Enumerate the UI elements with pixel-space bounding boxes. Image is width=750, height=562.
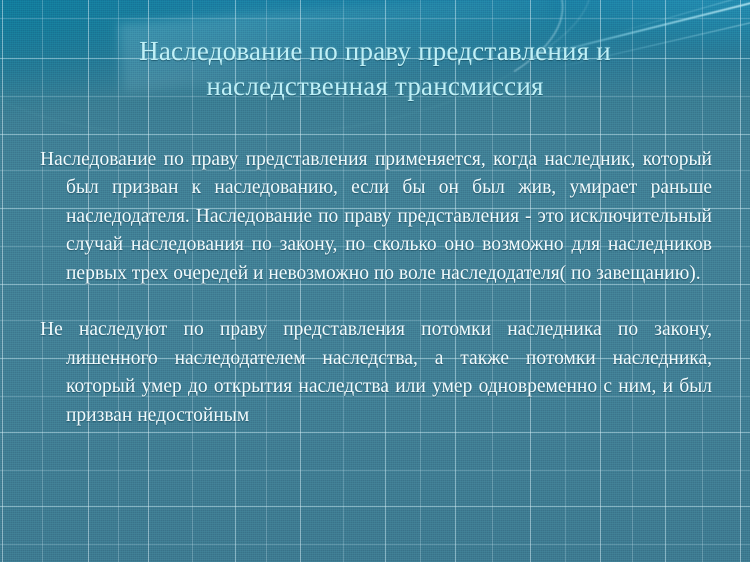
body-paragraph: Наследование по праву представления прим… bbox=[40, 146, 712, 289]
slide-title: Наследование по праву представления и на… bbox=[60, 34, 690, 104]
slide-content: Наследование по праву представления и на… bbox=[0, 0, 750, 562]
body-paragraph: Не наследуют по праву представления пото… bbox=[40, 316, 712, 430]
slide-body: Наследование по праву представления прим… bbox=[40, 126, 712, 450]
presentation-slide: Наследование по праву представления и на… bbox=[0, 0, 750, 562]
